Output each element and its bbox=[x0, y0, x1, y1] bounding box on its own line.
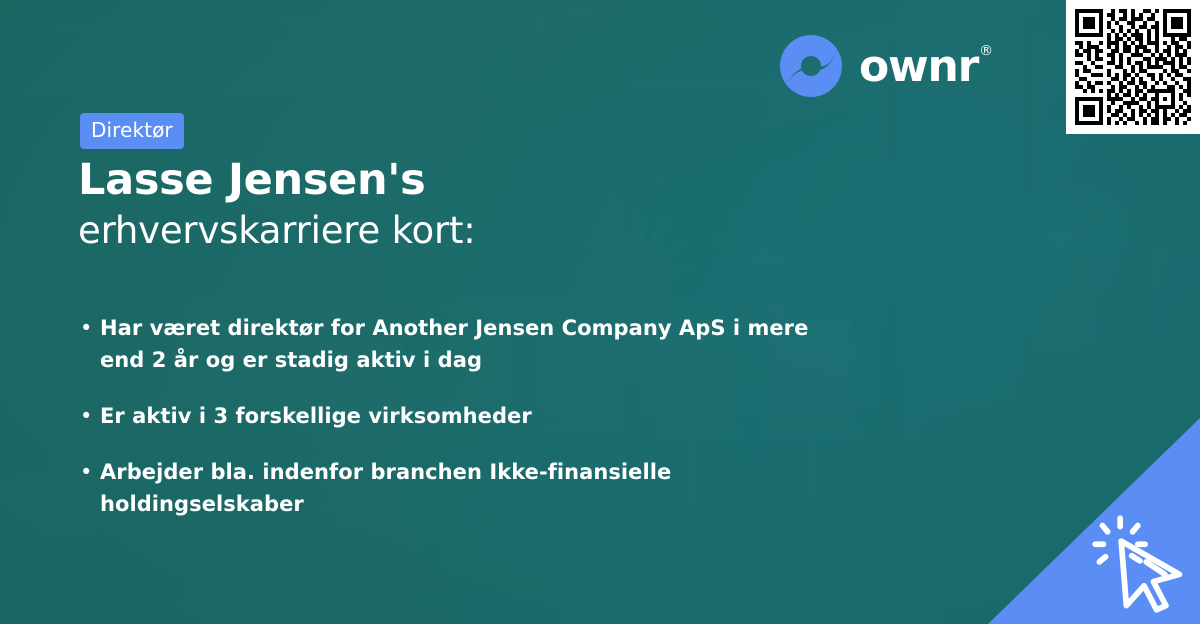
click-cursor-icon bbox=[1090, 512, 1194, 616]
fact-list: • Har været direktør for Another Jensen … bbox=[80, 313, 960, 521]
bullet-dot-icon: • bbox=[80, 401, 100, 433]
ownr-circle-swirl-icon bbox=[779, 34, 843, 98]
wordmark-text: ownr bbox=[859, 41, 978, 92]
qr-code[interactable] bbox=[1075, 9, 1191, 125]
list-item-label: Har været direktør for Another Jensen Co… bbox=[100, 313, 860, 377]
list-item: • Er aktiv i 3 forskellige virksomheder bbox=[80, 401, 960, 433]
ownr-logo: ownr® bbox=[779, 34, 992, 98]
title-line-1: Lasse Jensen's bbox=[78, 155, 798, 206]
title-line-2: erhvervskarriere kort: bbox=[78, 208, 798, 253]
list-item: • Har været direktør for Another Jensen … bbox=[80, 313, 960, 377]
list-item-label: Er aktiv i 3 forskellige virksomheder bbox=[100, 401, 860, 433]
ownr-wordmark: ownr® bbox=[859, 45, 992, 89]
profile-card: Direktør Lasse Jensen's erhvervskarriere… bbox=[0, 0, 1200, 624]
blue-corner-wedge bbox=[988, 418, 1200, 624]
list-item-label: Arbejder bla. indenfor branchen Ikke-fin… bbox=[100, 457, 870, 521]
role-badge: Direktør bbox=[80, 113, 184, 149]
page-title: Lasse Jensen's erhvervskarriere kort: bbox=[78, 155, 798, 253]
registered-mark: ® bbox=[979, 43, 993, 59]
bullet-dot-icon: • bbox=[80, 457, 100, 521]
qr-code-panel[interactable] bbox=[1066, 0, 1200, 134]
bullet-dot-icon: • bbox=[80, 313, 100, 377]
list-item: • Arbejder bla. indenfor branchen Ikke-f… bbox=[80, 457, 960, 521]
